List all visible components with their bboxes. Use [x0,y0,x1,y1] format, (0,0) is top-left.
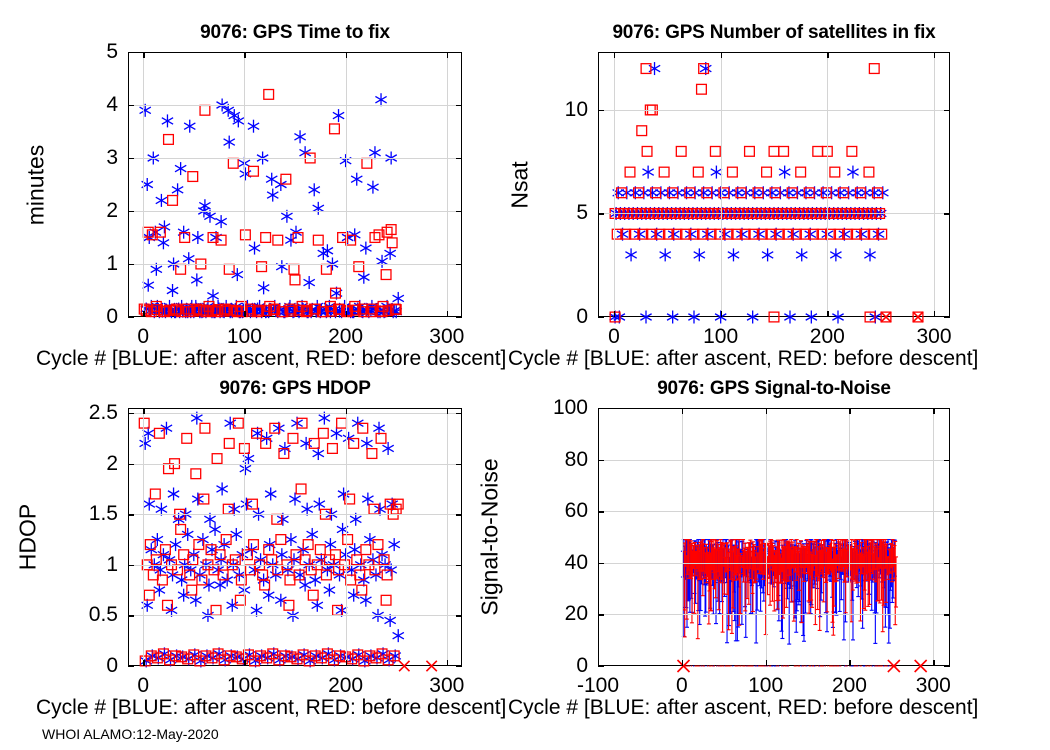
gridline-vertical [766,408,767,666]
x-axis-tick-label: 0 [676,674,688,698]
gridline-vertical [721,52,722,317]
y-axis-tick [598,317,604,318]
gridline-vertical [447,408,448,666]
y-axis-tick [598,110,604,111]
gridline-horizontal [128,413,462,414]
y-axis-title: Signal-to-Noise [477,458,504,615]
y-axis-tick-label: 4 [106,93,118,117]
y-axis-tick [128,317,134,318]
plot-box [598,408,950,666]
subplot-title: 9076: GPS HDOP [128,378,462,400]
y-axis-tick [456,317,462,318]
y-axis-tick [598,563,604,564]
y-axis-tick [456,514,462,515]
y-axis-tick-label: 20 [565,602,588,626]
x-axis-tick-label: 100 [227,325,262,349]
x-axis-tick [143,660,144,666]
x-axis-tick-label: 100 [703,325,738,349]
gridline-vertical [346,408,347,666]
y-axis-tick [944,563,950,564]
y-axis-tick [456,158,462,159]
x-axis-tick [447,52,448,58]
gridline-horizontal [128,105,462,106]
plot-box [128,408,462,666]
gridline-vertical [827,52,828,317]
subplot-signal-to-noise: 9076: GPS Signal-to-Noise Signal-to-Nois… [598,408,950,666]
y-axis-tick [456,105,462,106]
x-axis-tick [244,52,245,58]
y-axis-tick [128,264,134,265]
y-axis-tick [944,666,950,667]
x-axis-tick [346,660,347,666]
x-axis-tick [827,311,828,317]
gridline-horizontal [598,511,950,512]
x-axis-title: Cycle # [BLUE: after ascent, RED: before… [508,696,978,720]
x-axis-tick [346,52,347,58]
x-axis-tick-label: 100 [748,674,783,698]
x-axis-tick [614,311,615,317]
x-axis-tick [346,311,347,317]
x-axis-tick [614,52,615,58]
x-axis-tick-label: 200 [328,325,363,349]
x-axis-tick [447,660,448,666]
y-axis-tick-label: 3 [106,146,118,170]
x-axis-tick [447,408,448,414]
x-axis-tick-label: 100 [227,674,262,698]
y-axis-tick [456,464,462,465]
y-axis-tick-label: 5 [576,201,588,225]
x-axis-tick [849,660,850,666]
gridline-vertical [143,52,144,317]
y-axis-tick-label: 1 [106,252,118,276]
y-axis-tick [128,464,134,465]
x-axis-tick [682,660,683,666]
x-axis-tick [849,408,850,414]
subplot-title: 9076: GPS Time to fix [128,22,462,44]
gridline-horizontal [128,514,462,515]
y-axis-tick [128,615,134,616]
gridline-horizontal [128,211,462,212]
y-axis-tick [456,211,462,212]
gridline-vertical [614,52,615,317]
x-axis-tick [143,52,144,58]
y-axis-tick-label: 0 [576,305,588,329]
x-axis-tick [933,408,934,414]
gridline-horizontal [128,158,462,159]
x-axis-title: Cycle # [BLUE: after ascent, RED: before… [508,347,978,371]
x-axis-tick-label: 0 [137,325,149,349]
x-axis-tick-label: 300 [916,674,951,698]
gridline-vertical [143,408,144,666]
y-axis-tick [456,565,462,566]
y-axis-tick [128,158,134,159]
x-axis-tick [143,311,144,317]
gridline-vertical [244,52,245,317]
y-axis-tick [128,565,134,566]
x-axis-tick-label: -100 [577,674,619,698]
y-axis-tick-label: 2 [106,199,118,223]
y-axis-tick [128,413,134,414]
figure-canvas: 9076: GPS Time to fix minutes Cycle # [B… [0,0,1050,750]
gridline-vertical [346,52,347,317]
y-axis-tick [128,52,134,53]
x-axis-tick-label: 200 [832,674,867,698]
x-axis-tick [766,408,767,414]
gridline-horizontal [128,615,462,616]
gridline-vertical [933,408,934,666]
y-axis-title: HDOP [15,504,42,570]
y-axis-tick-label: 0.5 [89,603,118,627]
x-axis-tick [933,660,934,666]
subplot-title: 9076: GPS Signal-to-Noise [598,378,950,400]
y-axis-tick [944,317,950,318]
y-axis-title: Nsat [507,161,534,208]
y-axis-tick-label: 5 [106,40,118,64]
y-axis-tick [944,460,950,461]
x-axis-tick [447,311,448,317]
y-axis-tick [598,511,604,512]
y-axis-tick [598,666,604,667]
x-axis-tick [682,408,683,414]
y-axis-tick-label: 2.5 [89,401,118,425]
x-axis-tick [827,52,828,58]
y-axis-tick [456,413,462,414]
y-axis-tick [456,52,462,53]
y-axis-tick [456,666,462,667]
figure-footer: WHOI ALAMO:12-May-2020 [42,726,219,742]
x-axis-tick [934,52,935,58]
gridline-horizontal [128,464,462,465]
gridline-horizontal [598,563,950,564]
x-axis-tick [143,408,144,414]
y-axis-tick-label: 40 [565,551,588,575]
x-axis-tick-label: 0 [608,325,620,349]
x-axis-tick [244,408,245,414]
y-axis-tick [944,614,950,615]
gridline-horizontal [598,460,950,461]
y-axis-tick-label: 0 [106,305,118,329]
x-axis-title: Cycle # [BLUE: after ascent, RED: before… [36,347,506,371]
y-axis-tick [128,105,134,106]
y-axis-tick-label: 60 [565,499,588,523]
y-axis-tick [944,213,950,214]
gridline-vertical [849,408,850,666]
x-axis-tick-label: 300 [429,325,464,349]
y-axis-tick [128,211,134,212]
gridline-vertical [934,52,935,317]
x-axis-tick-label: 0 [137,674,149,698]
x-axis-tick-label: 300 [429,674,464,698]
gridline-vertical [682,408,683,666]
y-axis-title: minutes [23,144,50,225]
y-axis-tick-label: 0 [106,654,118,678]
y-axis-tick-label: 80 [565,448,588,472]
y-axis-tick [598,460,604,461]
plot-box [128,52,462,317]
y-axis-tick [456,615,462,616]
y-axis-tick-label: 10 [565,98,588,122]
gridline-horizontal [128,565,462,566]
x-axis-tick [244,311,245,317]
x-axis-tick-label: 200 [810,325,845,349]
x-axis-tick [346,408,347,414]
gridline-horizontal [128,264,462,265]
y-axis-tick [598,408,604,409]
y-axis-tick-label: 1.5 [89,502,118,526]
x-axis-tick [721,311,722,317]
subplot-nsat: 9076: GPS Number of satellites in fix Ns… [598,52,950,317]
plot-box [598,52,950,317]
gridline-vertical [447,52,448,317]
y-axis-tick [456,264,462,265]
y-axis-tick [598,614,604,615]
x-axis-tick-label: 300 [916,325,951,349]
y-axis-tick [128,666,134,667]
gridline-vertical [244,408,245,666]
y-axis-tick-label: 2 [106,452,118,476]
gridline-horizontal [598,213,950,214]
x-axis-tick-label: 200 [328,674,363,698]
x-axis-tick [244,660,245,666]
subplot-title: 9076: GPS Number of satellites in fix [598,22,950,44]
y-axis-tick-label: 100 [553,396,588,420]
y-axis-tick [944,110,950,111]
subplot-time-to-fix: 9076: GPS Time to fix minutes Cycle # [B… [128,52,462,317]
x-axis-title: Cycle # [BLUE: after ascent, RED: before… [36,696,506,720]
y-axis-tick [944,408,950,409]
x-axis-tick [766,660,767,666]
x-axis-tick [721,52,722,58]
x-axis-tick [934,311,935,317]
y-axis-tick [598,213,604,214]
y-axis-tick-label: 1 [106,553,118,577]
y-axis-tick [128,514,134,515]
gridline-horizontal [598,614,950,615]
gridline-horizontal [598,110,950,111]
subplot-hdop: 9076: GPS HDOP HDOP Cycle # [BLUE: after… [128,408,462,666]
y-axis-tick [944,511,950,512]
